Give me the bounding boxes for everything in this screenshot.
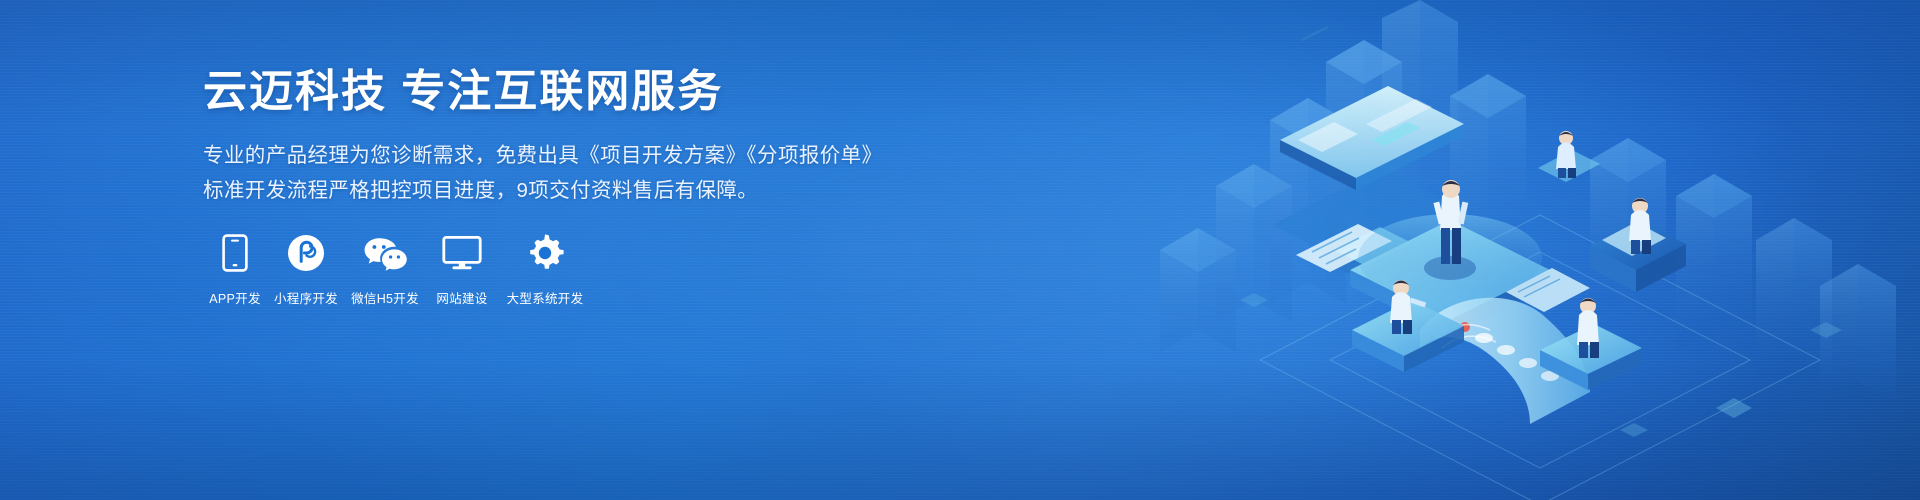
monitor-icon [442, 232, 482, 274]
banner-headline: 云迈科技 专注互联网服务 [203, 66, 963, 118]
banner-subtitle-line-1: 专业的产品经理为您诊断需求，免费出具《项目开发方案》《分项报价单》 [203, 138, 963, 173]
banner-subtitle: 专业的产品经理为您诊断需求，免费出具《项目开发方案》《分项报价单》 标准开发流程… [203, 138, 963, 209]
service-item-wechat[interactable]: 微信H5开发 [345, 232, 425, 307]
banner-text-block: 云迈科技 专注互联网服务 专业的产品经理为您诊断需求，免费出具《项目开发方案》《… [203, 66, 963, 208]
isometric-illustration [1120, 0, 1920, 500]
service-label-system: 大型系统开发 [507, 288, 584, 307]
service-label-wechat: 微信H5开发 [351, 288, 419, 307]
mobile-phone-icon [222, 232, 248, 274]
service-label-website: 网站建设 [436, 288, 487, 307]
wechat-icon [363, 232, 407, 274]
hero-banner: 云迈科技 专注互联网服务 专业的产品经理为您诊断需求，免费出具《项目开发方案》《… [0, 0, 1920, 500]
banner-subtitle-line-2: 标准开发流程严格把控项目进度，9项交付资料售后有保障。 [203, 173, 963, 208]
service-item-app[interactable]: APP开发 [203, 232, 267, 307]
service-item-miniprogram[interactable]: 小程序开发 [269, 232, 343, 307]
service-label-app: APP开发 [209, 288, 261, 307]
service-item-system[interactable]: 大型系统开发 [499, 232, 591, 307]
gear-icon [525, 232, 565, 274]
service-list: APP开发 小程序开发 [203, 232, 593, 307]
service-label-miniprogram: 小程序开发 [274, 288, 338, 307]
mini-program-icon [287, 232, 325, 274]
service-item-website[interactable]: 网站建设 [427, 232, 497, 307]
